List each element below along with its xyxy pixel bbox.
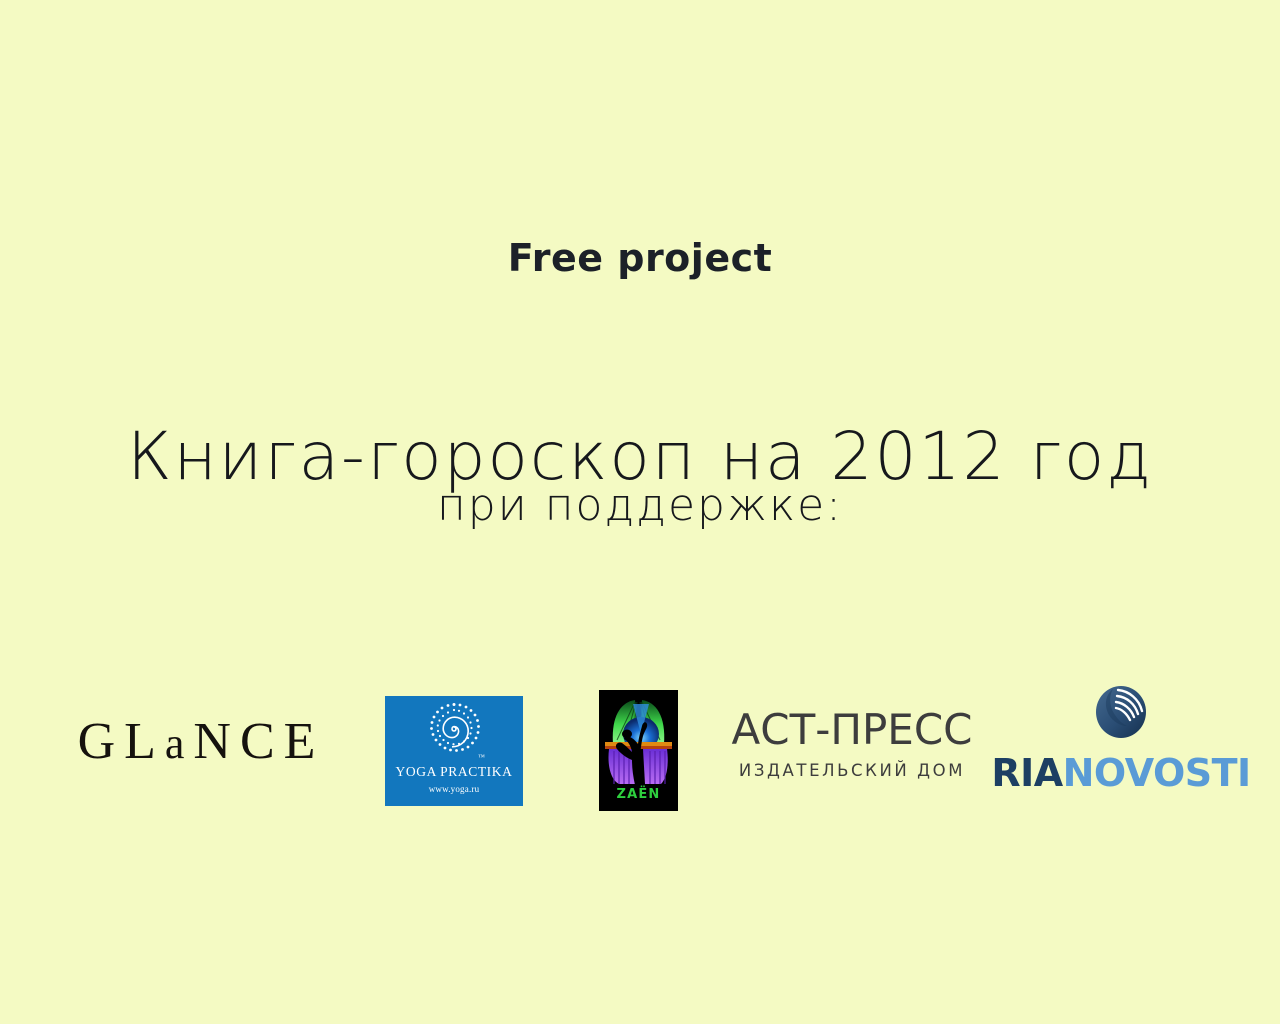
slide-kicker: Free project	[0, 236, 1280, 280]
ria-text: RIA	[991, 751, 1062, 795]
sponsor-logo-zaen[interactable]: ZAËN	[599, 690, 678, 811]
glance-letters-nce: NCE	[193, 713, 324, 770]
ast-press-tagline: ИЗДАТЕЛЬСКИЙ ДОМ	[739, 761, 965, 780]
yoga-practika-url: www.yoga.ru	[429, 784, 480, 794]
ria-novosti-wordmark: RIANOVOSTI	[991, 754, 1250, 792]
novosti-text: NOVOSTI	[1063, 751, 1251, 795]
sponsor-logo-row: GLaNCE	[0, 676, 1280, 826]
glance-letter-g: G	[78, 713, 125, 770]
zaen-artwork-icon	[605, 696, 672, 785]
title-block: Книга-гороскоп на 2012 год при поддержке…	[0, 424, 1280, 528]
sponsor-logo-glance[interactable]: GLaNCE	[56, 712, 346, 772]
glance-letter-a: a	[165, 719, 194, 768]
sponsor-logo-ast-press[interactable]: АСТ-ПРЕСС ИЗДАТЕЛЬСКИЙ ДОМ	[734, 704, 970, 784]
glance-letter-l: L	[124, 713, 165, 770]
sponsor-logo-yoga-practika[interactable]: ™ YOGA PRACTIKA www.yoga.ru	[385, 696, 523, 806]
trademark-symbol: ™	[478, 753, 485, 761]
glance-wordmark: GLaNCE	[78, 716, 325, 768]
ast-press-wordmark: АСТ-ПРЕСС	[732, 709, 973, 751]
spiral-sun-icon: ™	[422, 701, 486, 763]
zaen-wordmark: ZAËN	[616, 788, 660, 801]
yoga-practika-wordmark: YOGA PRACTIKA	[396, 764, 513, 780]
sponsor-logo-ria-novosti[interactable]: RIANOVOSTI	[1013, 682, 1229, 797]
presentation-slide: Free project Книга-гороскоп на 2012 год …	[0, 0, 1280, 1024]
globe-sphere-icon	[1089, 682, 1153, 740]
